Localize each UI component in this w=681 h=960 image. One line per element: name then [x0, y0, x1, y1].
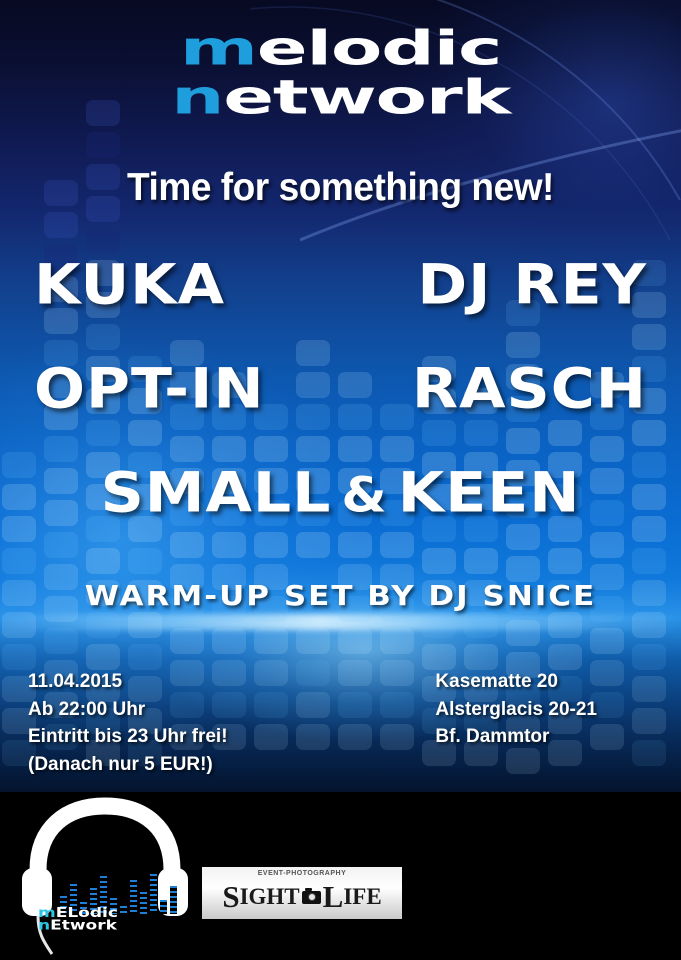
artist-row: KUKA DJ REY — [0, 250, 681, 320]
sight-life-logo: Event-Photography SIGHTLIFE — [202, 867, 402, 919]
sight-life-subtitle: Event-Photography — [202, 870, 402, 877]
artist-name: DJ REY — [417, 253, 647, 317]
sight-life-ight: IGHT — [240, 884, 300, 910]
sight-life-s: S — [222, 879, 239, 915]
venue-name: Kasematte 20 — [435, 668, 597, 696]
event-free-entry: Eintritt bis 23 Uhr frei! — [28, 723, 228, 751]
artist-lineup: KUKA DJ REY OPT-IN RASCH SMALL & KEEN — [0, 250, 681, 542]
artist-name: KEEN — [398, 461, 581, 525]
brand-logo-accent-m: m — [180, 22, 257, 77]
event-flyer: mELodic nEtwork Time for something new! … — [0, 0, 681, 960]
brand-logo: mELodic nEtwork — [0, 22, 681, 126]
artist-row: SMALL & KEEN — [0, 458, 681, 528]
artist-name: RASCH — [412, 357, 647, 421]
sight-life-ife: IFE — [343, 884, 381, 910]
event-price-note: (Danach nur 5 EUR!) — [28, 751, 228, 779]
venue-street: Alsterglacis 20-21 — [435, 696, 597, 724]
tagline: Time for something new! — [17, 166, 664, 210]
melodic-network-footer-wordmark: mELodic nEtwork — [38, 907, 203, 932]
brand-logo-accent-n: n — [171, 71, 223, 126]
artist-ampersand: & — [331, 468, 397, 523]
event-details: 11.04.2015 Ab 22:00 Uhr Eintritt bis 23 … — [28, 668, 228, 778]
sponsor-footer-bar: mELodic nEtwork Event-Photography SIGHTL… — [0, 792, 681, 960]
sight-life-wordmark: SIGHTLIFE — [222, 879, 381, 915]
artist-row: OPT-IN RASCH — [0, 354, 681, 424]
sight-life-l: L — [323, 879, 344, 915]
venue-details: Kasematte 20 Alsterglacis 20-21 Bf. Damm… — [435, 668, 597, 751]
warmup-set-line: WARM-UP SET BY DJ SNICE — [0, 580, 681, 612]
brand-logo-line1: ELodic — [257, 22, 501, 77]
event-date: 11.04.2015 — [28, 668, 228, 696]
footer-logo-accent-n: n — [38, 918, 50, 934]
brand-logo-line2: Etwork — [223, 71, 510, 126]
artist-name: OPT-IN — [34, 357, 265, 421]
artist-name: SMALL — [101, 461, 332, 525]
melodic-network-footer-logo: mELodic nEtwork — [8, 792, 203, 960]
footer-logo-line2: Etwork — [50, 918, 117, 934]
artist-name: KUKA — [34, 253, 225, 317]
camera-icon — [302, 891, 321, 904]
event-start-time: Ab 22:00 Uhr — [28, 696, 228, 724]
venue-transit: Bf. Dammtor — [435, 723, 597, 751]
